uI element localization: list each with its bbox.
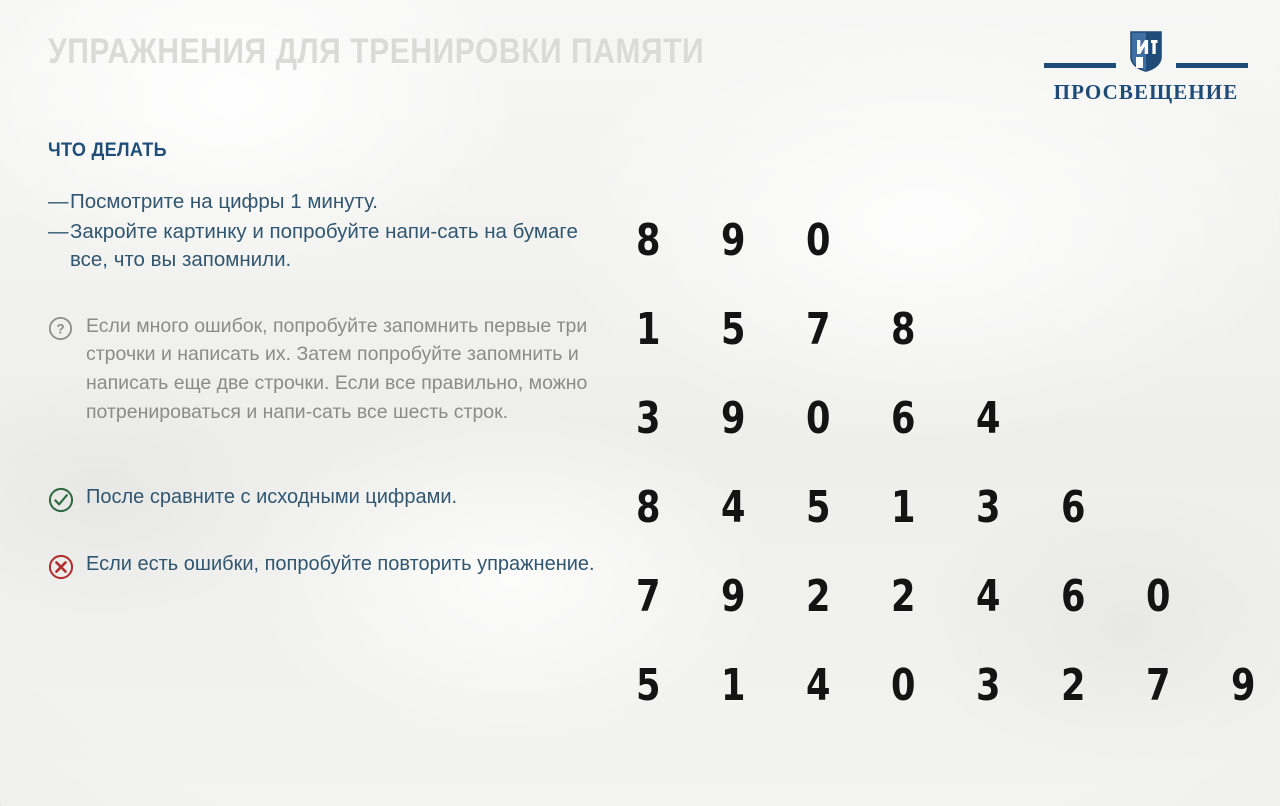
digit-cell: 7	[636, 571, 704, 622]
shield-emblem-icon	[1130, 30, 1162, 72]
digit-cell: 6	[891, 393, 959, 444]
digit-cell: 3	[636, 393, 704, 444]
hint-note-text: Если много ошибок, попробуйте запомнить …	[86, 312, 608, 427]
question-circle-icon: ?	[48, 312, 86, 427]
list-item: — Посмотрите на цифры 1 минуту.	[48, 188, 608, 216]
result-text: После сравните с исходными цифрами.	[86, 484, 608, 511]
digit-cell: 9	[721, 393, 789, 444]
digit-cell: 0	[891, 660, 959, 711]
number-row: 51403279	[636, 641, 1268, 730]
section-heading: ЧТО ДЕЛАТЬ	[48, 140, 580, 162]
digit-cell: 0	[806, 215, 874, 266]
logo-mark-row	[1036, 30, 1256, 76]
digit-cell: 4	[721, 482, 789, 533]
digit-cell: 0	[1146, 571, 1214, 622]
step-text: Закройте картинку и попробуйте напи-сать…	[70, 218, 608, 274]
digit-cell: 1	[891, 482, 959, 533]
dash-bullet-icon: —	[48, 188, 70, 216]
logo-wordmark: ПРОСВЕЩЕНИЕ	[1036, 80, 1256, 105]
digit-cell: 5	[806, 482, 874, 533]
hint-note: ? Если много ошибок, попробуйте запомнит…	[48, 312, 608, 427]
digit-cell: 5	[636, 660, 704, 711]
digit-cell: 6	[1061, 482, 1129, 533]
cross-circle-icon	[48, 551, 86, 588]
list-item: Если есть ошибки, попробуйте повторить у…	[48, 551, 608, 588]
number-row: 1578	[636, 285, 1268, 374]
digit-cell: 1	[721, 660, 789, 711]
list-item: — Закройте картинку и попробуйте напи-са…	[48, 218, 608, 274]
page-title: УПРАЖНЕНИЯ ДЛЯ ТРЕНИРОВКИ ПАМЯТИ	[48, 32, 704, 72]
publisher-logo: ПРОСВЕЩЕНИЕ	[1036, 30, 1256, 105]
digit-cell: 9	[1231, 660, 1280, 711]
slide-stage: УПРАЖНЕНИЯ ДЛЯ ТРЕНИРОВКИ ПАМЯТИ ПРОСВЕЩ…	[0, 0, 1280, 806]
logo-rule-left	[1044, 63, 1116, 68]
digit-cell: 5	[721, 304, 789, 355]
check-circle-icon	[48, 484, 86, 521]
digit-cell: 4	[806, 660, 874, 711]
digit-cell: 9	[721, 571, 789, 622]
digit-cell: 7	[1146, 660, 1214, 711]
digit-cell: 3	[976, 482, 1044, 533]
list-item: После сравните с исходными цифрами.	[48, 484, 608, 521]
digit-cell: 8	[891, 304, 959, 355]
digit-cell: 7	[806, 304, 874, 355]
steps-list: — Посмотрите на цифры 1 минуту. — Закрой…	[48, 188, 608, 274]
digit-cell: 8	[636, 482, 704, 533]
digit-cell: 1	[636, 304, 704, 355]
result-text: Если есть ошибки, попробуйте повторить у…	[86, 551, 608, 578]
step-text: Посмотрите на цифры 1 минуту.	[70, 188, 608, 216]
digit-cell: 0	[806, 393, 874, 444]
digit-cell: 3	[976, 660, 1044, 711]
logo-rule-right	[1176, 63, 1248, 68]
digit-cell: 4	[976, 393, 1044, 444]
digit-cell: 4	[976, 571, 1044, 622]
number-grid: 890157839064845136792246051403279	[636, 196, 1268, 730]
digit-cell: 2	[1061, 660, 1129, 711]
digit-cell: 6	[1061, 571, 1129, 622]
number-row: 39064	[636, 374, 1268, 463]
svg-text:?: ?	[56, 321, 64, 336]
digit-cell: 2	[891, 571, 959, 622]
results-list: После сравните с исходными цифрами. Если…	[48, 484, 608, 588]
digit-cell: 8	[636, 215, 704, 266]
number-row: 890	[636, 196, 1268, 285]
dash-bullet-icon: —	[48, 218, 70, 274]
number-row: 845136	[636, 463, 1268, 552]
digit-cell: 9	[721, 215, 789, 266]
instructions-column: ЧТО ДЕЛАТЬ — Посмотрите на цифры 1 минут…	[48, 140, 608, 618]
number-row: 7922460	[636, 552, 1268, 641]
digit-cell: 2	[806, 571, 874, 622]
